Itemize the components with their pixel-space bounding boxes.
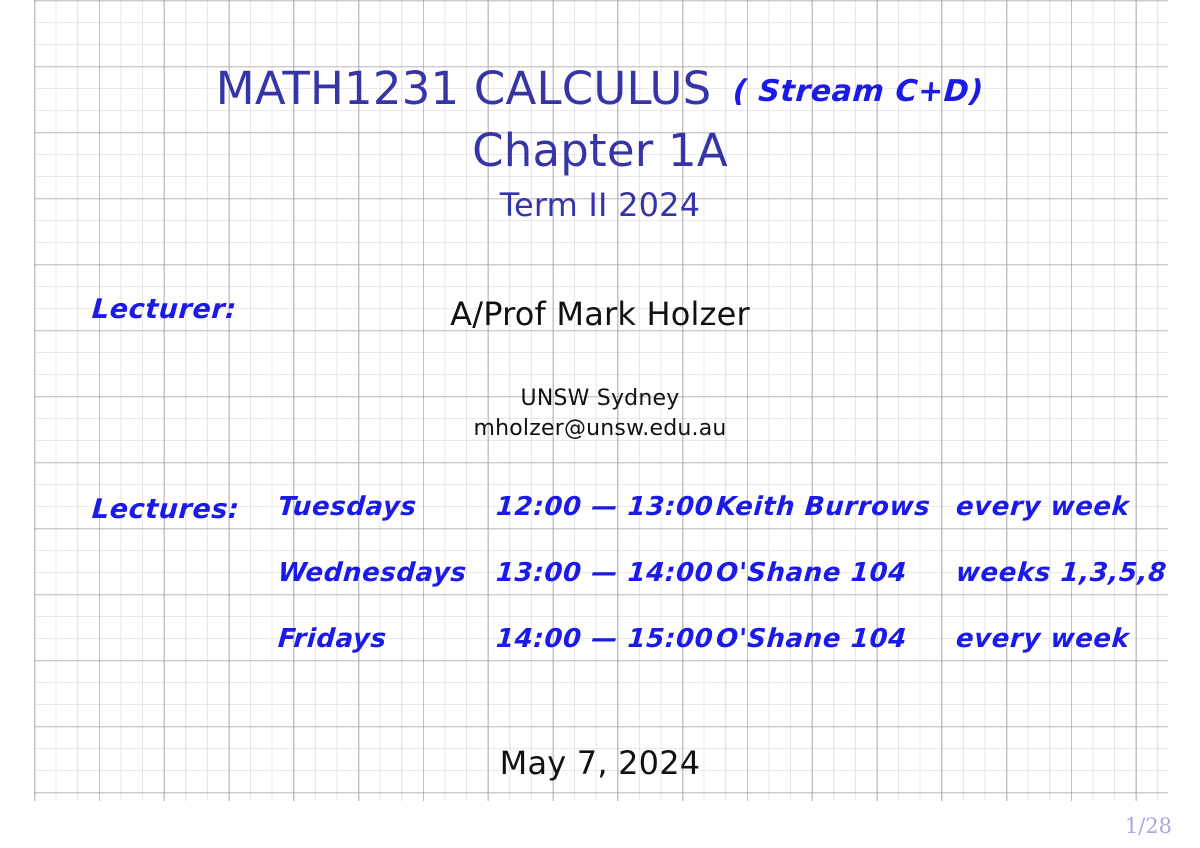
table-row: Tuesdays 12:00 — 13:00 Keith Burrows eve…: [278, 492, 1158, 558]
table-row: Wednesdays 13:00 — 14:00 O'Shane 104 wee…: [278, 558, 1158, 624]
table-row: Fridays 14:00 — 15:00 O'Shane 104 every …: [278, 624, 1158, 690]
slide-date: May 7, 2024: [0, 744, 1200, 782]
lecture-time: 12:00 — 13:00: [495, 492, 715, 522]
affiliation-text: UNSW Sydney: [0, 386, 1200, 411]
slide-content: MATH1231 CALCULUS( Stream C+D) Chapter 1…: [0, 0, 1200, 848]
lecture-time: 13:00 — 14:00: [495, 558, 715, 588]
lecture-weeks: weeks 1,3,5,8: [955, 558, 1168, 588]
lecture-venue: O'Shane 104: [715, 558, 908, 588]
lecture-day: Wednesdays: [277, 558, 468, 588]
lecture-venue: O'Shane 104: [715, 624, 908, 654]
term-subtitle: Term II 2024: [0, 186, 1200, 224]
lecture-venue: Keith Burrows: [715, 492, 932, 522]
lecture-schedule-table: Tuesdays 12:00 — 13:00 Keith Burrows eve…: [278, 492, 1158, 690]
lecturer-name: A/Prof Mark Holzer: [0, 295, 1200, 333]
slide-canvas: MATH1231 CALCULUS( Stream C+D) Chapter 1…: [0, 0, 1200, 848]
lecture-weeks: every week: [955, 624, 1131, 654]
lecture-time: 14:00 — 15:00: [495, 624, 715, 654]
lecture-day: Fridays: [277, 624, 388, 654]
slide-title-row: MATH1231 CALCULUS( Stream C+D): [0, 62, 1200, 115]
page-title: MATH1231 CALCULUS: [216, 62, 712, 115]
page-number: 1/28: [1125, 814, 1172, 838]
chapter-subtitle: Chapter 1A: [0, 124, 1200, 177]
lecture-weeks: every week: [955, 492, 1131, 522]
lectures-label: Lectures:: [91, 494, 241, 525]
email-text: mholzer@unsw.edu.au: [0, 416, 1200, 441]
lecture-day: Tuesdays: [277, 492, 418, 522]
stream-annotation: ( Stream C+D): [732, 74, 985, 109]
